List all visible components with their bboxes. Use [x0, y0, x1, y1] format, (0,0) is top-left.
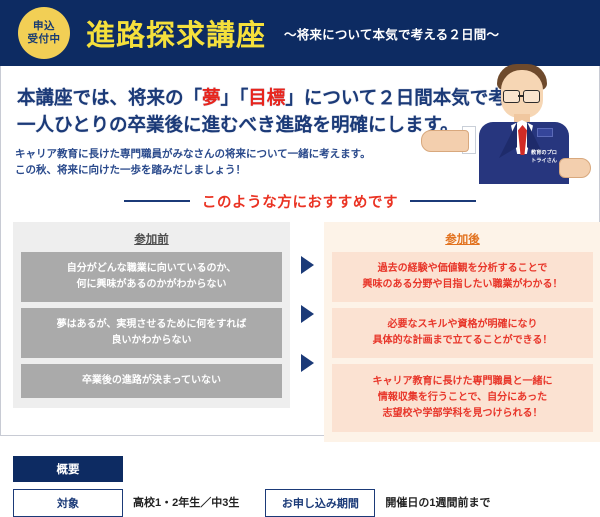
outline-section: 概要 対象 高校1・2年生／中3生 お申し込み期間 開催日の1週間前まで — [13, 456, 587, 517]
outline-row: 対象 高校1・2年生／中3生 お申し込み期間 開催日の1週間前まで — [13, 489, 587, 517]
hero-highlight-dream: 夢 — [202, 87, 221, 108]
instructor-left-hand — [421, 130, 469, 152]
recommend-section-heading: このような方におすすめです — [1, 188, 599, 214]
after-column-header: 参加後 — [332, 228, 593, 252]
page-header: 申込 受付中 進路探求講座 〜将来について本気で考える２日間〜 — [0, 0, 600, 66]
outline-label-application-period: お申し込み期間 — [265, 489, 375, 517]
after-column: 参加後 過去の経験や価値観を分析することで興味のある分野や目指したい職業がわかる… — [324, 222, 600, 442]
before-item: 卒業後の進路が決まっていない — [21, 364, 282, 398]
before-column-header: 参加前 — [21, 228, 282, 252]
recommend-title: このような方におすすめです — [202, 191, 398, 212]
outline-value-application-period: 開催日の1週間前まで — [375, 489, 490, 517]
hero-subtext: キャリア教育に長けた専門職員がみなさんの将来について一緒に考えます。 この秋、将… — [15, 146, 371, 179]
course-promo-page: 申込 受付中 進路探求講座 〜将来について本気で考える２日間〜 本講座では、将来… — [0, 0, 600, 436]
application-open-badge: 申込 受付中 — [18, 7, 70, 59]
badge-line-1: 申込 — [33, 20, 55, 33]
instructor-glasses-right-lens — [523, 90, 540, 103]
before-column: 参加前 自分がどんな職業に向いているのか、何に興味があるのかがわからない 夢はあ… — [13, 222, 290, 408]
after-item: 過去の経験や価値観を分析することで興味のある分野や目指したい職業がわかる！ — [332, 252, 593, 302]
after-item: キャリア教育に長けた専門職員と一緒に情報収集を行うことで、自分にあった志望校や学… — [332, 364, 593, 432]
before-item: 自分がどんな職業に向いているのか、何に興味があるのかがわからない — [21, 252, 282, 302]
before-after-comparison: 参加前 自分がどんな職業に向いているのか、何に興味があるのかがわからない 夢はあ… — [13, 222, 587, 442]
outline-label-target: 対象 — [13, 489, 123, 517]
instructor-illustration: 教育のプロ トライさん — [461, 62, 587, 184]
transition-arrows — [290, 222, 324, 372]
outline-header: 概要 — [13, 456, 123, 482]
badge-line-2: 受付中 — [28, 33, 61, 46]
heading-rule-right — [410, 200, 476, 203]
hero-subtext-line-1: キャリア教育に長けた専門職員がみなさんの将来について一緒に考えます。 — [15, 146, 371, 162]
arrow-right-icon — [301, 354, 314, 372]
outline-spacer — [239, 489, 265, 517]
hero-highlight-goal: 目標 — [248, 87, 285, 108]
after-item: 必要なスキルや資格が明確になり具体的な計画まで立てることができる！ — [332, 308, 593, 358]
arrow-right-icon — [301, 256, 314, 274]
instructor-label-line-1: 教育のプロ — [521, 150, 567, 158]
heading-rule-left — [124, 200, 190, 203]
hero-section: 本講座では、将来の「夢」「目標」について２日間本気で考え 一人ひとりの卒業後に進… — [1, 66, 599, 184]
arrow-right-icon — [301, 305, 314, 323]
hero-text-a: 本講座では、将来の「 — [17, 87, 202, 108]
page-body: 本講座では、将来の「夢」「目標」について２日間本気で考え 一人ひとりの卒業後に進… — [0, 66, 600, 436]
before-item: 夢はあるが、実現させるために何をすれば良いかわからない — [21, 308, 282, 358]
hero-subtext-line-2: この秋、将来に向けた一歩を踏みだしましょう！ — [15, 162, 371, 178]
outline-value-target: 高校1・2年生／中3生 — [123, 489, 239, 517]
hero-text-b: 」「 — [221, 87, 249, 108]
page-title: 進路探求講座 — [86, 12, 266, 54]
page-subtitle: 〜将来について本気で考える２日間〜 — [284, 24, 499, 43]
hero-headline-line-1: 本講座では、将来の「夢」「目標」について２日間本気で考え — [17, 84, 525, 111]
instructor-name-badge — [537, 128, 553, 137]
instructor-right-hand — [559, 158, 591, 178]
instructor-glasses-bridge — [518, 95, 523, 97]
